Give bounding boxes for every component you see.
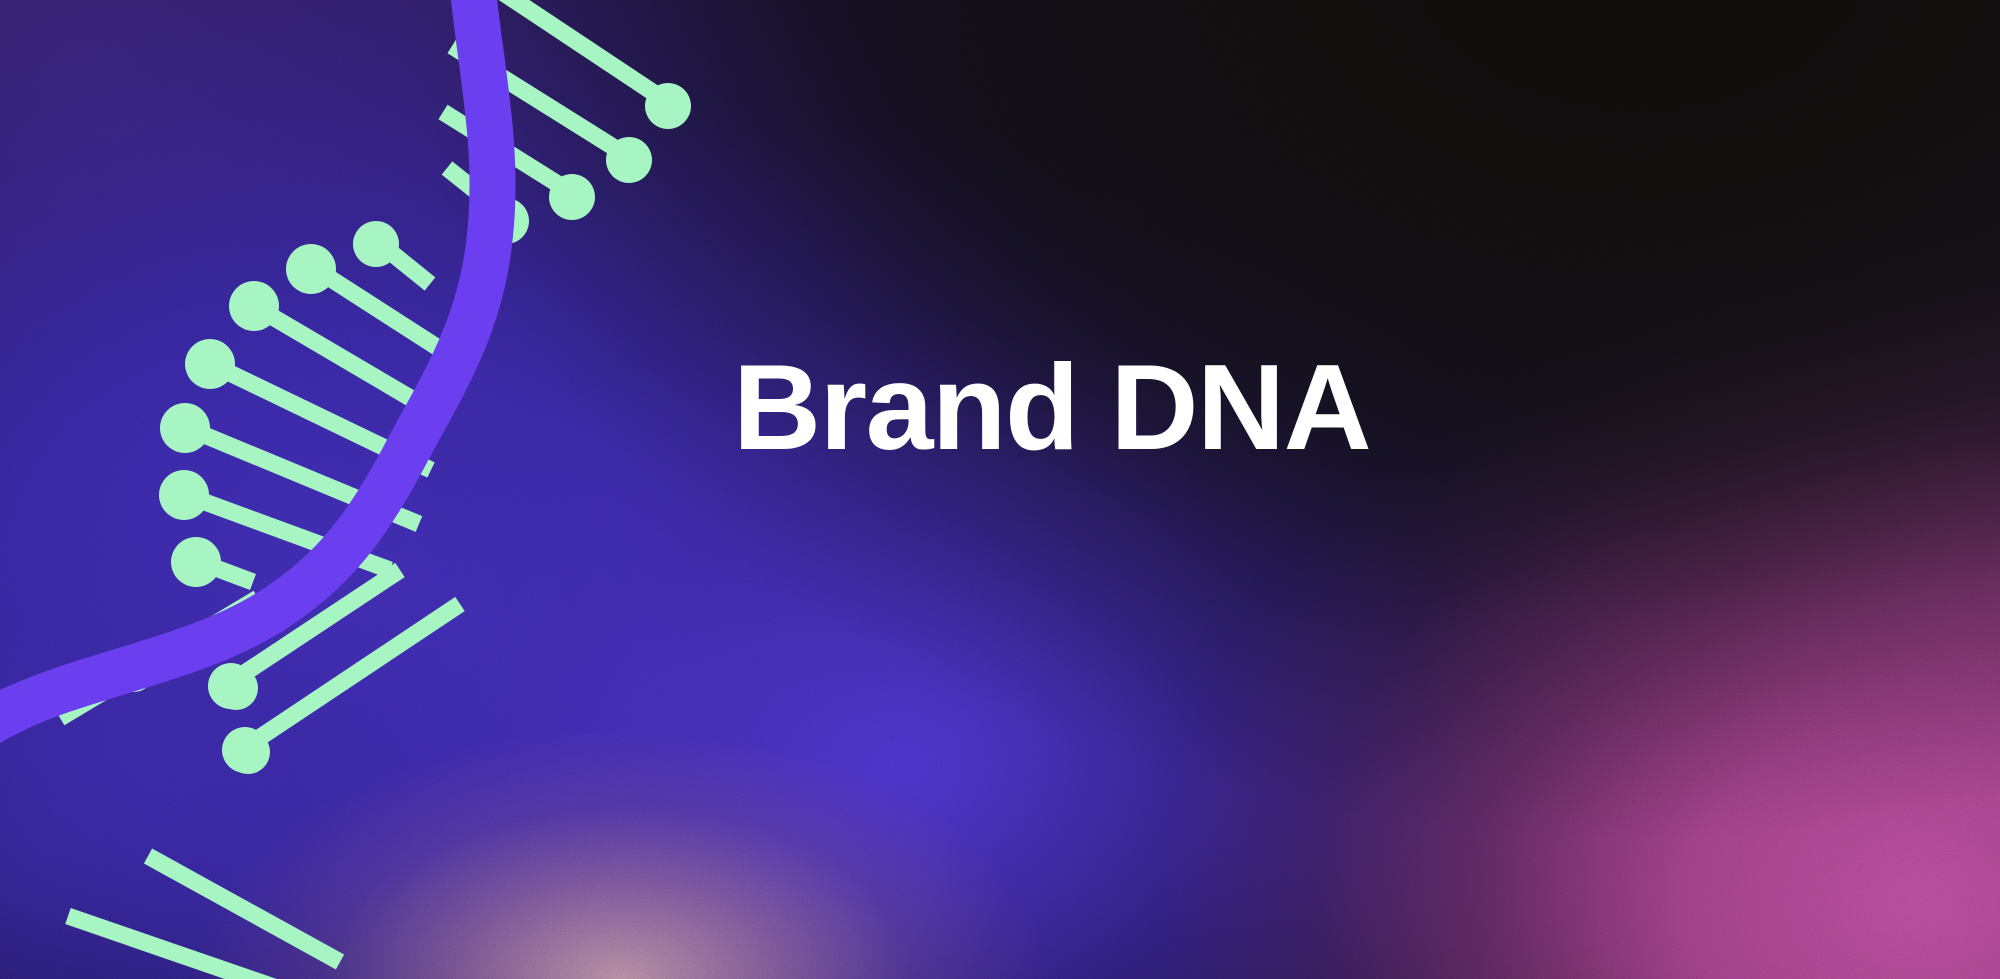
dna-node [185, 339, 235, 389]
dna-node [229, 281, 279, 331]
dna-helix-ribbon-lower [0, 608, 276, 758]
hero-title-container: Brand DNA [733, 327, 1633, 487]
dna-helix-illustration [0, 0, 2000, 979]
background-dark-top-right [0, 0, 2000, 979]
dna-rung-group-bottom [68, 856, 340, 979]
page-title: Brand DNA [733, 346, 1370, 468]
dna-rung [68, 916, 300, 979]
dna-rung [496, 0, 672, 105]
dna-rung [148, 856, 340, 962]
dna-node [353, 221, 399, 267]
dna-node [286, 244, 336, 294]
background-magenta-bottom-right [0, 0, 2000, 979]
background-base [0, 0, 2000, 979]
dna-node-group-middle [159, 221, 399, 587]
dna-rung [197, 561, 253, 582]
dna-rung-group-upper [443, 0, 672, 219]
dna-node [226, 730, 270, 774]
dna-node [483, 198, 529, 244]
background-grain-overlay [0, 0, 2000, 979]
dna-rung-group-middle [183, 242, 443, 582]
background-indigo-top-left [0, 0, 2000, 979]
background-warm-glow-bottom [0, 0, 2000, 979]
dna-node [114, 652, 154, 692]
dna-rung [378, 242, 430, 284]
dna-node [645, 83, 691, 129]
background-magenta-right [0, 0, 2000, 979]
dna-node [606, 137, 652, 183]
dna-node [159, 470, 209, 520]
dna-rung [447, 168, 511, 219]
background-violet-center [0, 0, 2000, 979]
brand-dna-hero-banner: Brand DNA [0, 0, 2000, 979]
background-violet-mid-left [0, 0, 2000, 979]
dna-node [160, 403, 210, 453]
dna-rung [452, 46, 634, 160]
dna-node-group-lower-left [114, 652, 268, 773]
dna-rung [443, 112, 577, 196]
dna-node [171, 537, 221, 587]
dna-node-group-upper [483, 83, 691, 244]
dna-node-group-bottom [214, 666, 270, 774]
dna-node [214, 666, 258, 710]
dna-node [222, 727, 268, 773]
dna-node [208, 663, 254, 709]
dna-rung [128, 598, 258, 676]
dna-rung-group-lower-left [60, 570, 460, 752]
dna-rung [183, 494, 390, 570]
dna-rung [314, 268, 443, 351]
dna-rung [185, 427, 419, 524]
dna-node [549, 174, 595, 220]
dna-rung [211, 364, 431, 470]
dna-rung [254, 306, 441, 416]
dna-rung [60, 664, 150, 718]
dna-helix-ribbon [0, 0, 493, 752]
dna-rung [238, 604, 460, 752]
dna-rung [222, 570, 400, 688]
background-blue-bottom-left [0, 0, 2000, 979]
